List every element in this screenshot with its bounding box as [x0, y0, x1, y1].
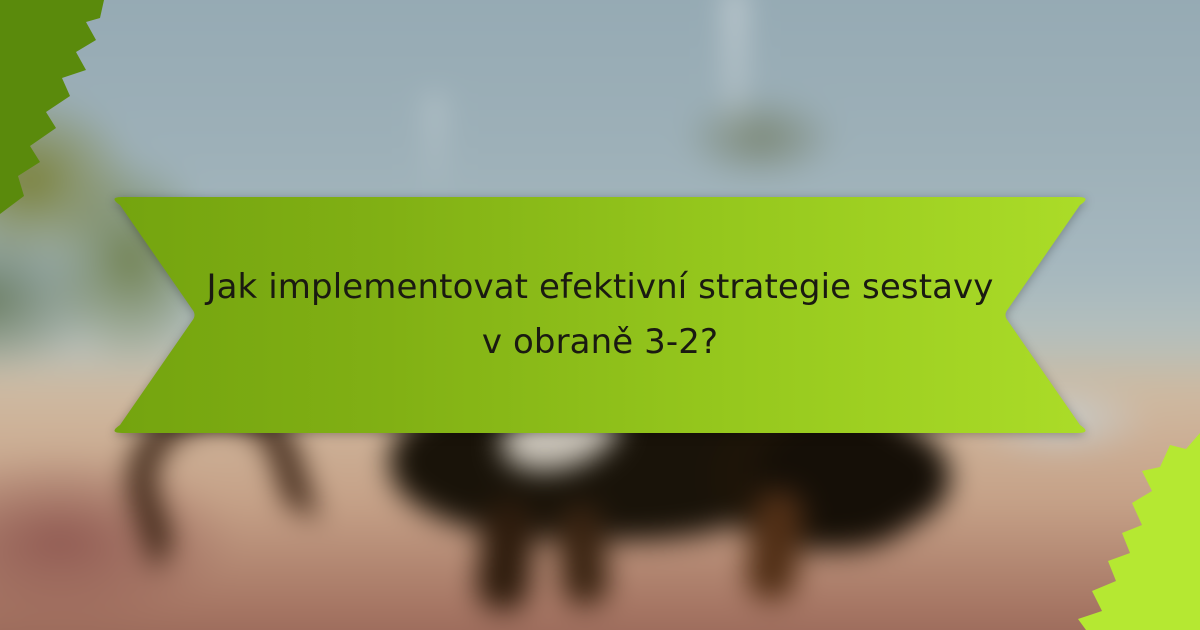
- social-card: Jak implementovat efektivní strategie se…: [0, 0, 1200, 630]
- headline-line-2: v obraně 3-2?: [482, 315, 718, 370]
- headline-ribbon: Jak implementovat efektivní strategie se…: [108, 197, 1092, 433]
- dog-leg-mid: [556, 503, 611, 607]
- headline-line-1: Jak implementovat efektivní strategie se…: [207, 260, 994, 315]
- ribbon-headline: Jak implementovat efektivní strategie se…: [204, 197, 996, 433]
- pole-blur-secondary: [430, 95, 440, 185]
- tree-mid: [650, 78, 870, 198]
